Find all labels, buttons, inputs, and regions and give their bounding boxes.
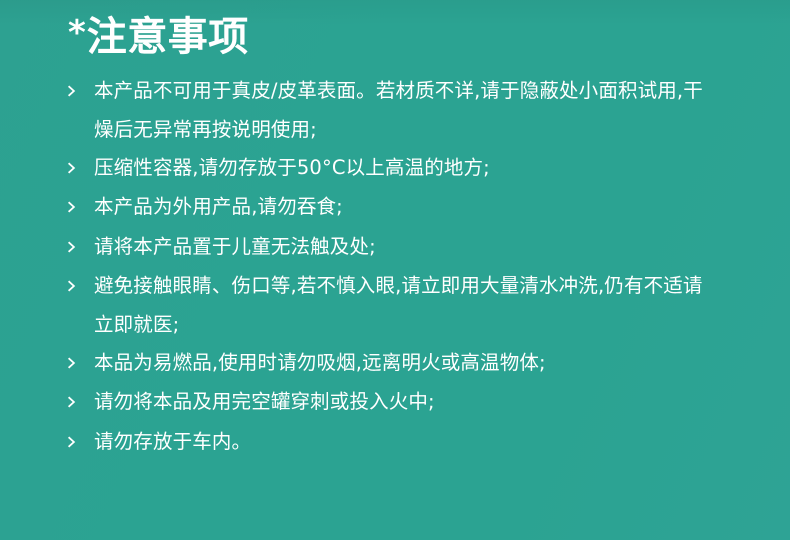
list-item-text: 本品为易燃品,使用时请勿吸烟,远离明火或高温物体; (94, 351, 546, 374)
list-item: 请将本产品置于儿童无法触及处; (68, 228, 708, 267)
chevron-right-icon (68, 345, 94, 382)
list-item: 压缩性容器,请勿存放于50°C以上高温的地方; (68, 149, 708, 188)
page-title: * 注意事项 (68, 8, 249, 66)
chevron-right-icon (68, 190, 94, 227)
list-item-text: 请勿存放于车内。 (94, 430, 251, 453)
chevron-right-icon (68, 229, 94, 266)
title-asterisk: * (68, 16, 86, 50)
title-label: 注意事项 (87, 8, 249, 66)
list-item: 本产品不可用于真皮/皮革表面。若材质不详,请于隐蔽处小面积试用,干燥后无异常再按… (68, 72, 708, 149)
chevron-right-icon (68, 269, 94, 306)
chevron-right-icon (68, 424, 94, 461)
list-item: 请勿存放于车内。 (68, 423, 708, 462)
chevron-right-icon (68, 150, 94, 187)
precautions-card: * 注意事项 本产品不可用于真皮/皮革表面。若材质不详,请于隐蔽处小面积试用,干… (0, 0, 790, 540)
list-item: 请勿将本品及用完空罐穿刺或投入火中; (68, 383, 708, 422)
list-item: 本产品为外用产品,请勿吞食; (68, 188, 708, 227)
list-item: 避免接触眼睛、伤口等,若不慎入眼,请立即用大量清水冲洗,仍有不适请立即就医; (68, 267, 708, 344)
list-item-text: 本产品不可用于真皮/皮革表面。若材质不详,请于隐蔽处小面积试用,干燥后无异常再按… (94, 79, 703, 141)
list-item-text: 压缩性容器,请勿存放于50°C以上高温的地方; (94, 156, 490, 179)
list-item-text: 请将本产品置于儿童无法触及处; (94, 235, 376, 258)
list-item-text: 避免接触眼睛、伤口等,若不慎入眼,请立即用大量清水冲洗,仍有不适请立即就医; (94, 274, 703, 336)
chevron-right-icon (68, 74, 94, 111)
chevron-right-icon (68, 385, 94, 422)
list-item: 本品为易燃品,使用时请勿吸烟,远离明火或高温物体; (68, 344, 708, 383)
list-item-text: 请勿将本品及用完空罐穿刺或投入火中; (94, 390, 435, 413)
precautions-list: 本产品不可用于真皮/皮革表面。若材质不详,请于隐蔽处小面积试用,干燥后无异常再按… (68, 72, 708, 462)
list-item-text: 本产品为外用产品,请勿吞食; (94, 195, 343, 218)
